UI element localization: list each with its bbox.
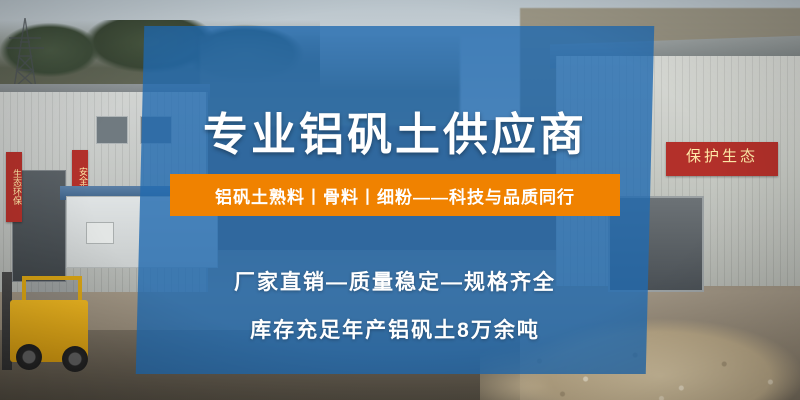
banner-image: 生态环保 安全生产 保护生态 专业铝矾土供应商 铝矾土熟料丨骨料丨细粉——科技与… bbox=[0, 0, 800, 400]
headline-text: 专业铝矾土供应商 bbox=[140, 98, 650, 163]
left-building-window bbox=[96, 116, 128, 144]
blue-overlay-panel: 专业铝矾土供应商 铝矾土熟料丨骨料丨细粉——科技与品质同行 厂家直销—质量稳定—… bbox=[136, 26, 655, 374]
sub-line-2: 库存充足年产铝矾土8万余吨 bbox=[140, 314, 650, 344]
left-signage-vertical-1: 生态环保 bbox=[6, 152, 22, 222]
right-signage: 保护生态 bbox=[666, 142, 778, 176]
panel-content: 专业铝矾土供应商 铝矾土熟料丨骨料丨细粉——科技与品质同行 厂家直销—质量稳定—… bbox=[140, 26, 650, 374]
forklift-wheel bbox=[16, 344, 42, 370]
sub-line-1: 厂家直销—质量稳定—规格齐全 bbox=[140, 266, 650, 296]
forklift-wheel bbox=[62, 346, 88, 372]
orange-highlight-bar: 铝矾土熟料丨骨料丨细粉——科技与品质同行 bbox=[170, 174, 620, 216]
air-conditioner-unit bbox=[86, 222, 114, 244]
orange-bar-text: 铝矾土熟料丨骨料丨细粉——科技与品质同行 bbox=[215, 183, 575, 208]
